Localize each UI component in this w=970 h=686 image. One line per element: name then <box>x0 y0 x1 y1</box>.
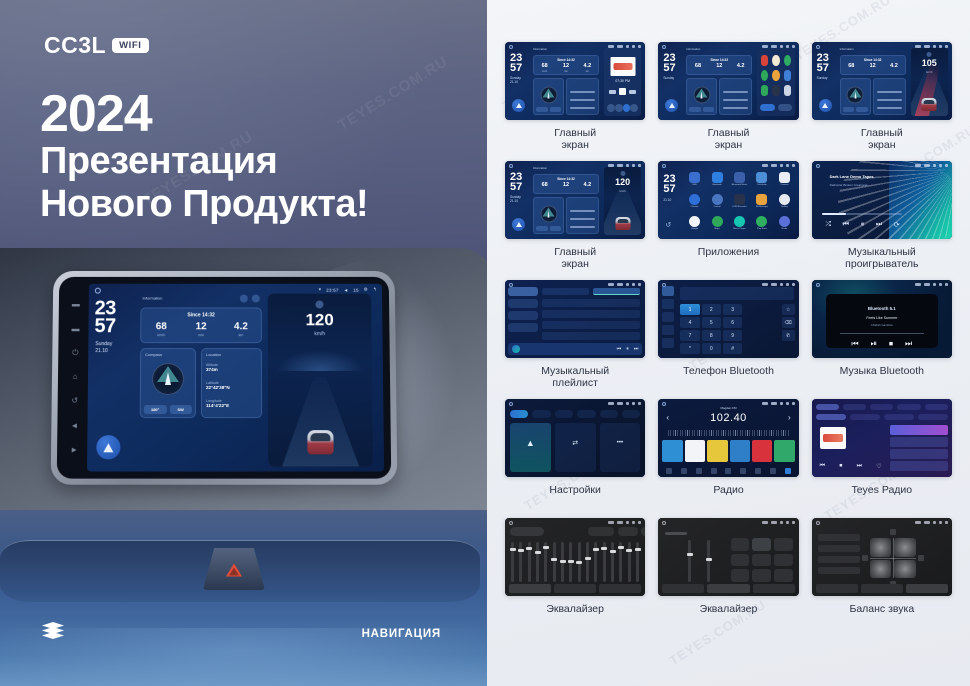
grid-item[interactable]: 23 57 Sunday Information Since 14:32 68 … <box>812 42 952 153</box>
driving-view[interactable]: 105 km/h <box>911 48 948 116</box>
thumbnail-apps[interactable]: 23 57 21.10 ↺ WiFi Bluetooth Bluetooth M… <box>658 161 798 239</box>
dial-key[interactable]: # <box>723 343 742 354</box>
grid-item[interactable]: Эквалайзер <box>505 518 645 629</box>
stat-value: 68 <box>141 322 181 332</box>
eq-sliders[interactable] <box>511 542 639 582</box>
thumbnail-equalizer-2[interactable] <box>658 518 798 596</box>
tab[interactable] <box>510 410 528 418</box>
grid-item[interactable]: ⏮ ⏸ ⏭ Музыкальный плейлист <box>505 280 645 391</box>
app-item[interactable]: Gallery <box>774 191 794 211</box>
title-line-1: Презентация <box>40 140 368 183</box>
thumbnail-home-drive[interactable]: 23 57 Sunday 21.10 Information Since 14:… <box>505 161 645 239</box>
thumbnail-sound-balance[interactable] <box>812 518 952 596</box>
dial-key[interactable]: 5 <box>702 317 721 328</box>
stat-unit: km/h <box>141 333 181 337</box>
hotspot-icon: ⇄ <box>572 439 578 447</box>
mute-icon[interactable]: ▬ <box>72 301 80 309</box>
tab-eq[interactable] <box>662 584 704 593</box>
eq-icon[interactable] <box>711 468 717 474</box>
grid-item[interactable]: Эквалайзер <box>658 518 798 629</box>
compass-label: Compass <box>145 352 162 357</box>
sidebar-item[interactable] <box>508 287 538 296</box>
preset-row[interactable] <box>818 556 860 563</box>
head-unit-screen[interactable]: ▾ 23:57 ◄ 15 ⚙ ↰ 23 57 Sunday <box>87 284 384 472</box>
date-widget: Sunday <box>663 76 674 80</box>
app-item[interactable]: DVR Recorder <box>729 191 749 211</box>
preset-button[interactable] <box>662 440 682 462</box>
progress-bar[interactable] <box>840 333 924 334</box>
tab[interactable] <box>884 414 914 420</box>
preset-pad[interactable] <box>774 569 793 582</box>
grid-item[interactable]: 23 57 21.10 ↺ WiFi Bluetooth Bluetooth M… <box>658 161 798 272</box>
preset-pad[interactable] <box>731 569 750 582</box>
favorite-icon[interactable]: ♡ <box>876 463 881 470</box>
preset-button[interactable] <box>730 440 750 462</box>
clock-widget: 23 57 <box>94 300 115 336</box>
eq-slider[interactable] <box>707 540 710 582</box>
grid-item[interactable]: 1 2 3 4 5 6 7 8 9 * 0 # ☆ <box>658 280 798 391</box>
tab-eq[interactable] <box>509 584 551 593</box>
prev-icon[interactable]: ⏮ <box>820 463 825 470</box>
eq-slider[interactable] <box>511 542 514 582</box>
prev-icon[interactable]: ⏮ <box>617 346 622 352</box>
navigation-fab-button[interactable] <box>96 435 120 459</box>
thumbnail-bt-phone[interactable]: 1 2 3 4 5 6 7 8 9 * 0 # ☆ <box>658 280 798 358</box>
player-controls[interactable]: ⤮ ⏮ ⏸ ⏭ ⟳ <box>820 221 906 229</box>
navigation-fab-button[interactable] <box>819 99 832 112</box>
radio-presets[interactable] <box>662 440 794 462</box>
tab[interactable] <box>925 404 948 410</box>
track-title: Dark Lane Demo Tapes <box>830 174 874 179</box>
eq-toggle[interactable] <box>588 527 614 536</box>
dial-key[interactable]: 4 <box>680 317 699 328</box>
app-item[interactable]: Play Store <box>752 213 772 233</box>
compass-heading: 180° <box>144 405 167 414</box>
prev-icon[interactable] <box>609 90 616 94</box>
tab[interactable] <box>555 410 573 418</box>
preset-button[interactable] <box>774 440 794 462</box>
home-icon[interactable]: ⌂ <box>73 373 78 381</box>
grid-item[interactable]: Баланс звука <box>812 518 952 629</box>
app-shortcut-panel[interactable] <box>757 48 794 116</box>
app-item[interactable]: Radio <box>774 213 794 233</box>
stat-value: 4.2 <box>730 64 751 70</box>
eq-preset-bar[interactable] <box>510 527 640 537</box>
compass-card <box>533 78 564 115</box>
band-icon[interactable] <box>666 468 672 474</box>
phone-sidebar[interactable] <box>660 286 676 353</box>
bluetooth-version: Bluetooth 5.1 <box>826 306 938 311</box>
location-card <box>566 78 599 115</box>
app-item[interactable]: WiFi <box>684 169 704 189</box>
list-icon[interactable] <box>696 468 702 474</box>
list-item[interactable] <box>890 437 948 447</box>
shortcut-icon[interactable] <box>623 104 631 112</box>
preset-row[interactable] <box>818 534 860 541</box>
playlist-sidebar[interactable] <box>508 287 538 342</box>
shortcut-icon[interactable] <box>630 104 638 112</box>
next-icon[interactable] <box>629 90 636 94</box>
eq-slider[interactable] <box>569 542 572 582</box>
player-controls[interactable]: ⏮ ⏯ ⏹ ⏭ <box>826 339 938 349</box>
repeat-icon[interactable]: ⟳ <box>894 221 900 229</box>
eq-tabs[interactable] <box>662 584 794 593</box>
preset-row[interactable] <box>818 567 860 574</box>
call-log-icon[interactable] <box>662 325 674 335</box>
volume-up-icon[interactable]: ► <box>70 446 78 454</box>
thumbnail-teyes-radio[interactable]: ⏮ ⏹ ⏭ ♡ <box>812 399 952 477</box>
stat-unit: km/h <box>534 70 555 73</box>
eq-slider[interactable] <box>619 542 622 582</box>
left-arrow-icon[interactable] <box>862 555 868 561</box>
thumbnail-home-apps[interactable]: 23 57 Sunday Information Since 14:32 68 … <box>658 42 798 120</box>
eq-tabs[interactable] <box>509 584 641 593</box>
tab[interactable] <box>843 404 866 410</box>
caption-line-1: Телефон Bluetooth <box>683 365 774 377</box>
compass-readout: 180° SW <box>144 405 192 414</box>
caption-line-1: Приложения <box>698 246 759 258</box>
tab-balance[interactable] <box>753 584 795 593</box>
dial-key[interactable]: 6 <box>723 317 742 328</box>
thumbnail-radio[interactable]: Magdan FM ‹ 102.40 › <box>658 399 798 477</box>
thumbnail-caption: Главный экран <box>554 127 596 153</box>
preset-button[interactable] <box>685 440 705 462</box>
driving-view[interactable]: 120 km/h <box>604 167 641 235</box>
information-label: Information <box>840 47 854 51</box>
app-icon[interactable] <box>761 85 768 96</box>
settings-icon[interactable] <box>662 338 674 348</box>
prev-icon[interactable]: ⏮ <box>843 221 849 229</box>
refresh-icon[interactable] <box>240 295 248 303</box>
navigation-fab-button[interactable] <box>512 99 525 112</box>
app-icon[interactable] <box>772 70 779 81</box>
app-item[interactable]: Bluetooth Music <box>729 169 749 189</box>
shortcut-icon[interactable] <box>607 104 615 112</box>
settings-cards[interactable]: ▲ ⇄ ••• <box>510 423 640 472</box>
app-icon[interactable] <box>784 85 791 96</box>
bt-player-panel: Bluetooth 5.1 Feels Like Summer Childish… <box>826 294 938 348</box>
eq-slider[interactable] <box>603 542 606 582</box>
dial-key[interactable]: 0 <box>702 343 721 354</box>
loc-icon[interactable] <box>740 468 746 474</box>
eq-slider[interactable] <box>561 542 564 582</box>
tab-eq[interactable] <box>816 584 858 593</box>
app-icon[interactable] <box>761 70 768 81</box>
clock-widget: 23 57 <box>510 172 522 192</box>
search-icon[interactable] <box>662 312 674 322</box>
preset-pad[interactable] <box>752 569 771 582</box>
stat-value: 68 <box>687 64 708 70</box>
app-item[interactable]: Control <box>707 191 727 211</box>
since-label: Since 14:32 <box>141 312 260 318</box>
thumbnail-home-media[interactable]: 23 57 Sunday 21.10 Information Since 14:… <box>505 42 645 120</box>
tab[interactable] <box>918 414 948 420</box>
trip-stats-card: Since 14:32 68 km/h 12 min <box>140 307 262 343</box>
gear-icon[interactable]: ⚙ <box>364 287 368 293</box>
star-icon[interactable]: ☆ <box>782 304 795 315</box>
phone-number-field[interactable] <box>680 287 793 300</box>
settings-tabs[interactable] <box>510 410 640 418</box>
eq-slider[interactable] <box>544 542 547 582</box>
call-icon[interactable]: ✆ <box>782 330 795 341</box>
search-icon[interactable] <box>681 468 687 474</box>
player-controls[interactable]: ⏮ ⏹ ⏭ ♡ <box>820 463 882 470</box>
thumbnail-playlist[interactable]: ⏮ ⏸ ⏭ <box>505 280 645 358</box>
title-line-2: Нового Продукта! <box>40 183 368 226</box>
track-album: Childish Gambino <box>826 323 938 327</box>
caption-line-2: проигрыватель <box>845 258 918 270</box>
sidebar-item[interactable] <box>508 311 538 320</box>
thumbnail-bt-music[interactable]: Bluetooth 5.1 Feels Like Summer Childish… <box>812 280 952 358</box>
eq-slider[interactable] <box>536 542 539 582</box>
rds-icon[interactable] <box>725 468 731 474</box>
app-icon[interactable] <box>784 55 791 66</box>
tab[interactable] <box>816 404 839 410</box>
play-pause-icon[interactable]: ⏯ <box>871 339 877 349</box>
tab[interactable] <box>577 410 595 418</box>
tab[interactable] <box>850 414 880 420</box>
preset-pad[interactable] <box>752 554 771 567</box>
thumbnail-settings[interactable]: ▲ ⇄ ••• <box>505 399 645 477</box>
back-icon[interactable]: ↰ <box>373 287 377 293</box>
head-unit-side-buttons[interactable]: ▬ ▬ ⏻ ⌂ ↺ ◄ ► <box>61 285 89 471</box>
radio-toolbar[interactable] <box>661 467 795 475</box>
progress-bar[interactable] <box>822 213 902 215</box>
teyes-filter-tabs[interactable] <box>816 414 948 420</box>
caption-line-1: Teyes Радио <box>851 484 912 496</box>
preset-row[interactable] <box>818 545 860 552</box>
thumbnail-equalizer[interactable] <box>505 518 645 596</box>
tab[interactable] <box>532 410 550 418</box>
media-controls[interactable] <box>608 88 637 95</box>
app-grid[interactable]: WiFi Bluetooth Bluetooth Music Calculato… <box>684 169 794 233</box>
preset-pad[interactable] <box>731 538 750 551</box>
tune-up-icon[interactable]: › <box>788 413 791 422</box>
preset-pad[interactable] <box>731 554 750 567</box>
eq-slider[interactable] <box>578 542 581 582</box>
stop-icon[interactable] <box>619 88 626 95</box>
tab-balance[interactable] <box>599 584 641 593</box>
thumbnail-music-player[interactable]: Dark Lane Demo Tapes Radiostar Broken Gr… <box>812 161 952 239</box>
sidebar-item[interactable] <box>508 299 538 308</box>
grid-item[interactable]: ⏮ ⏹ ⏭ ♡ Teyes Радио <box>812 399 952 510</box>
tuning-scale[interactable] <box>668 430 788 436</box>
trip-stats-card: Since 14:32 68km/h 12min 4.2km <box>533 55 599 75</box>
track-row[interactable] <box>542 321 640 329</box>
caption-line-1: Музыкальный <box>541 365 609 377</box>
app-icon[interactable] <box>772 55 779 66</box>
eq-tabs[interactable] <box>816 584 948 593</box>
prev-icon[interactable]: ⏮ <box>851 339 858 349</box>
dial-key[interactable]: 7 <box>680 330 699 341</box>
track-row[interactable] <box>542 332 640 340</box>
playlist-tabs[interactable] <box>542 288 640 295</box>
back-icon[interactable]: ↺ <box>71 397 78 405</box>
back-icon[interactable]: ↺ <box>665 221 671 229</box>
navigation-fab-button[interactable] <box>512 218 525 231</box>
preset-button[interactable] <box>752 440 772 462</box>
expand-icon[interactable] <box>252 295 260 303</box>
compass-dial-icon <box>540 87 557 104</box>
next-icon[interactable]: ⏭ <box>634 346 639 352</box>
teyes-top-tabs[interactable] <box>816 404 948 410</box>
list-item[interactable] <box>890 425 948 435</box>
phone-actions[interactable]: ☆ ⌫ ✆ <box>782 304 795 341</box>
home-indicator-icon <box>509 521 513 525</box>
stop-icon[interactable]: ⏹ <box>889 339 893 349</box>
eq-slider[interactable] <box>611 542 614 582</box>
grid-item[interactable]: 23 57 Sunday Information Since 14:32 68 … <box>658 42 798 153</box>
eq-slider[interactable] <box>553 542 556 582</box>
eq-slider[interactable] <box>688 540 691 582</box>
thumbnail-home-drive-red[interactable]: 23 57 Sunday Information Since 14:32 68 … <box>812 42 952 120</box>
tab[interactable] <box>622 410 640 418</box>
power-icon[interactable]: ⏻ <box>72 349 78 357</box>
caption-line-1: Главный <box>554 246 596 258</box>
app-icon[interactable] <box>772 85 779 96</box>
trip-stats-card: Since 14:32 68 12 4.2 <box>840 55 906 75</box>
app-icon[interactable] <box>784 70 791 81</box>
eq-slider[interactable] <box>628 542 631 582</box>
dial-key[interactable]: * <box>680 343 699 354</box>
preset-pad[interactable] <box>752 538 771 551</box>
longitude-row: Longitude 114°4'22"E <box>206 399 229 408</box>
next-icon[interactable]: ⏭ <box>857 463 862 470</box>
tab[interactable] <box>593 288 640 295</box>
tab-sound[interactable] <box>554 584 596 593</box>
dialpad[interactable]: 1 2 3 4 5 6 7 8 9 * 0 # <box>680 304 742 354</box>
now-playing-bar[interactable]: ⏮ ⏸ ⏭ <box>508 343 642 355</box>
front-arrow-icon[interactable] <box>890 529 896 535</box>
car-graphic <box>615 217 630 230</box>
tab-balance[interactable] <box>906 584 948 593</box>
eq-sliders[interactable] <box>680 540 718 582</box>
tab[interactable] <box>870 404 893 410</box>
preset-button[interactable] <box>707 440 727 462</box>
eq-button[interactable] <box>641 527 645 536</box>
eq-preset-pads[interactable] <box>731 538 793 582</box>
dial-key[interactable]: 9 <box>723 330 742 341</box>
next-icon[interactable]: ⏭ <box>876 221 882 229</box>
shortcut-icon[interactable] <box>615 104 623 112</box>
date-label: 21.10 <box>663 198 671 202</box>
app-item[interactable]: FileManager <box>752 191 772 211</box>
settings-icon[interactable] <box>770 468 776 474</box>
compass-dial-icon <box>152 363 184 395</box>
tab[interactable] <box>600 410 618 418</box>
app-item[interactable]: Chrome <box>684 191 704 211</box>
track-row[interactable] <box>542 310 640 318</box>
pause-icon[interactable]: ⏸ <box>861 221 865 229</box>
status-bar <box>762 521 795 524</box>
grid-item[interactable]: Magdan FM ‹ 102.40 › <box>658 399 798 510</box>
dial-key[interactable]: 1 <box>680 304 699 315</box>
dialpad-icon[interactable] <box>662 286 674 296</box>
player-controls[interactable]: ⏮ ⏸ ⏭ <box>617 346 639 352</box>
app-item[interactable]: Maps <box>707 213 727 233</box>
grid-icon[interactable] <box>785 468 791 474</box>
tab[interactable] <box>816 414 846 420</box>
dial-key[interactable]: 8 <box>702 330 721 341</box>
volume-level: ◄ <box>344 287 349 292</box>
eq-slider[interactable] <box>586 542 589 582</box>
driving-view[interactable]: 120 km/h <box>268 294 373 467</box>
grid-item[interactable]: 23 57 Sunday 21.10 Information Since 14:… <box>505 161 645 272</box>
app-item[interactable]: Calculator <box>752 169 772 189</box>
backspace-icon[interactable]: ⌫ <box>782 317 795 328</box>
thumbnail-caption: Эквалайзер <box>546 603 604 629</box>
right-arrow-icon[interactable] <box>918 555 924 561</box>
clock-minutes: 57 <box>663 63 675 73</box>
track-row[interactable] <box>542 299 640 307</box>
grid-item[interactable]: Dark Lane Demo Tapes Radiostar Broken Gr… <box>812 161 952 272</box>
volume-icon[interactable]: ▬ <box>72 325 80 333</box>
sidebar-item[interactable] <box>508 323 538 332</box>
tab[interactable] <box>897 404 920 410</box>
media-shortcuts[interactable] <box>607 104 638 112</box>
app-item[interactable]: Camera <box>774 169 794 189</box>
contacts-icon[interactable] <box>662 299 674 309</box>
grid-item[interactable]: ▲ ⇄ ••• Настройки <box>505 399 645 510</box>
list-item[interactable] <box>890 461 948 471</box>
information-header: Information <box>140 294 261 304</box>
dial-key[interactable]: 2 <box>702 304 721 315</box>
information-label: Information <box>533 166 547 170</box>
album-art <box>610 57 635 76</box>
st-icon[interactable] <box>755 468 761 474</box>
eq-slider[interactable] <box>594 542 597 582</box>
dial-key[interactable]: 3 <box>723 304 742 315</box>
home-indicator-icon[interactable] <box>95 288 101 294</box>
list-item[interactable] <box>890 449 948 459</box>
tab-sound[interactable] <box>707 584 749 593</box>
toggle-button[interactable] <box>760 104 774 111</box>
media-widget[interactable]: 07:30 PM <box>604 48 641 116</box>
eq-slider[interactable] <box>636 542 639 582</box>
latitude-row: Latitude 22°42'38"N <box>206 381 230 390</box>
grid-item[interactable]: Bluetooth 5.1 Feels Like Summer Childish… <box>812 280 952 391</box>
grid-item[interactable]: 23 57 Sunday 21.10 Information Since 14:… <box>505 42 645 153</box>
more-card[interactable]: ••• <box>600 423 641 472</box>
app-icon[interactable] <box>761 55 768 66</box>
volume-down-icon[interactable]: ◄ <box>70 422 78 430</box>
clock-minutes: 57 <box>663 184 675 194</box>
clock-widget: 23 57 <box>663 53 675 73</box>
eq-button[interactable] <box>618 527 638 536</box>
stop-icon[interactable]: ⏹ <box>839 463 842 470</box>
app-item[interactable]: Bluetooth <box>707 169 727 189</box>
shuffle-icon[interactable]: ⤮ <box>825 221 831 229</box>
wifi-card[interactable]: ▲ <box>510 423 551 472</box>
information-label: Information <box>533 47 547 51</box>
station-list[interactable] <box>890 425 948 472</box>
toggle-button[interactable] <box>778 104 792 111</box>
preset-pad[interactable] <box>774 554 793 567</box>
pause-icon[interactable]: ⏸ <box>626 346 629 352</box>
eq-slider[interactable] <box>528 542 531 582</box>
tab-sound[interactable] <box>861 584 903 593</box>
tab[interactable] <box>542 288 589 295</box>
next-icon[interactable]: ⏭ <box>905 339 912 349</box>
hotspot-card[interactable]: ⇄ <box>555 423 596 472</box>
eq-slider[interactable] <box>519 542 522 582</box>
app-item[interactable]: Music Player <box>729 213 749 233</box>
app-item[interactable]: Google <box>684 213 704 233</box>
balance-presets[interactable] <box>818 534 860 578</box>
preset-pad[interactable] <box>774 538 793 551</box>
clock-minutes: 57 <box>510 63 522 73</box>
eq-preset-badge[interactable] <box>510 527 544 536</box>
